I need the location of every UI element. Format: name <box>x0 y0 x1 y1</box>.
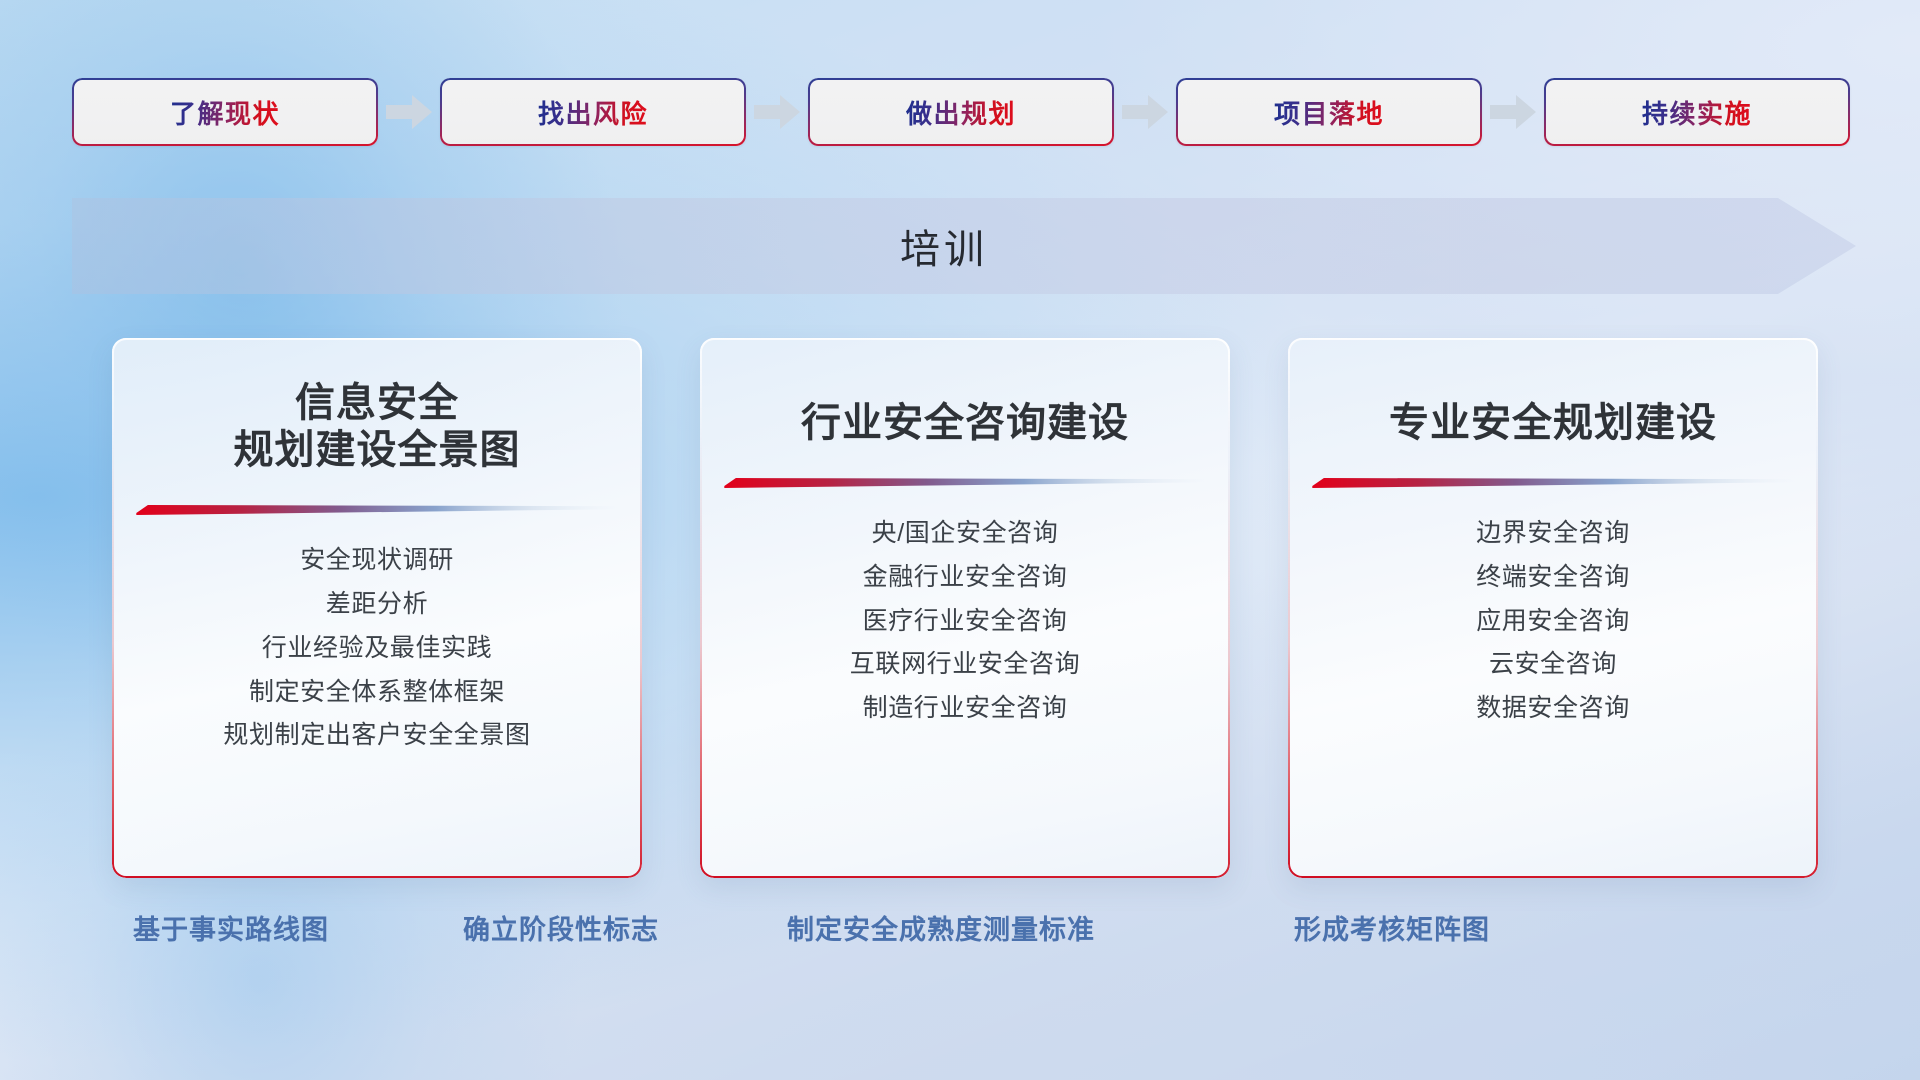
card-professional-security-planning[interactable]: 专业安全规划建设 <box>1288 338 1818 878</box>
footnote-0: 基于事实路线图 <box>133 908 329 947</box>
card-body: 专业安全规划建设 <box>1288 338 1818 878</box>
card-item-list: 央/国企安全咨询 金融行业安全咨询 医疗行业安全咨询 互联网行业安全咨询 制造行… <box>722 517 1208 726</box>
card-industry-security-consulting[interactable]: 行业安全咨询建设 <box>700 338 1230 878</box>
process-step-2[interactable]: 做出规划 <box>808 78 1114 146</box>
arrow-right-icon <box>746 78 808 146</box>
list-item: 云安全咨询 <box>1489 648 1617 682</box>
arrow-right-icon <box>1114 78 1176 146</box>
list-item: 互联网行业安全咨询 <box>850 648 1080 682</box>
card-item-list: 安全现状调研 差距分析 行业经验及最佳实践 制定安全体系整体框架 规划制定出客户… <box>134 544 620 753</box>
list-item: 制定安全体系整体框架 <box>249 676 505 710</box>
process-step-label: 做出规划 <box>906 94 1016 131</box>
list-item: 行业经验及最佳实践 <box>262 632 492 666</box>
card-title: 信息安全 规划建设全景图 <box>234 380 521 474</box>
footnote-2: 制定安全成熟度测量标准 <box>787 908 1095 947</box>
footnote-row: 基于事实路线图 确立阶段性标志 制定安全成熟度测量标准 形成考核矩阵图 <box>0 908 1920 960</box>
list-item: 应用安全咨询 <box>1476 605 1630 639</box>
list-item: 数据安全咨询 <box>1476 692 1630 726</box>
list-item: 央/国企安全咨询 <box>872 517 1059 551</box>
process-step-label: 项目落地 <box>1274 94 1384 131</box>
process-step-4[interactable]: 持续实施 <box>1544 78 1850 146</box>
card-row: 信息安全 规划建设全景图 <box>112 338 1818 878</box>
list-item: 制造行业安全咨询 <box>863 692 1068 726</box>
card-body: 信息安全 规划建设全景图 <box>112 338 642 878</box>
process-step-label: 找出风险 <box>538 94 648 131</box>
card-information-security-blueprint[interactable]: 信息安全 规划建设全景图 <box>112 338 642 878</box>
card-title: 专业安全规划建设 <box>1389 400 1717 447</box>
list-item: 差距分析 <box>326 588 428 622</box>
gradient-divider-icon <box>1310 473 1796 491</box>
banner-title: 培训 <box>72 198 1856 294</box>
card-item-list: 边界安全咨询 终端安全咨询 应用安全咨询 云安全咨询 数据安全咨询 <box>1310 517 1796 726</box>
arrow-right-icon <box>378 78 440 146</box>
card-title: 行业安全咨询建设 <box>801 400 1129 447</box>
process-step-0[interactable]: 了解现状 <box>72 78 378 146</box>
footnote-3: 形成考核矩阵图 <box>1294 908 1490 947</box>
card-body: 行业安全咨询建设 <box>700 338 1230 878</box>
list-item: 边界安全咨询 <box>1476 517 1630 551</box>
gradient-divider-icon <box>722 473 1208 491</box>
list-item: 金融行业安全咨询 <box>863 561 1068 595</box>
process-step-3[interactable]: 项目落地 <box>1176 78 1482 146</box>
process-step-1[interactable]: 找出风险 <box>440 78 746 146</box>
list-item: 医疗行业安全咨询 <box>863 605 1068 639</box>
process-step-label: 持续实施 <box>1642 94 1752 131</box>
process-step-row: 了解现状 找出风险 做出规划 项目落地 <box>72 78 1856 146</box>
footnote-1: 确立阶段性标志 <box>463 908 659 947</box>
list-item: 规划制定出客户安全全景图 <box>223 719 530 753</box>
arrow-right-icon <box>1482 78 1544 146</box>
list-item: 安全现状调研 <box>300 544 454 578</box>
gradient-divider-icon <box>134 500 620 518</box>
process-step-label: 了解现状 <box>170 94 280 131</box>
list-item: 终端安全咨询 <box>1476 561 1630 595</box>
slide-content: 了解现状 找出风险 做出规划 项目落地 <box>0 0 1920 1080</box>
training-banner: 培训 <box>72 198 1856 294</box>
